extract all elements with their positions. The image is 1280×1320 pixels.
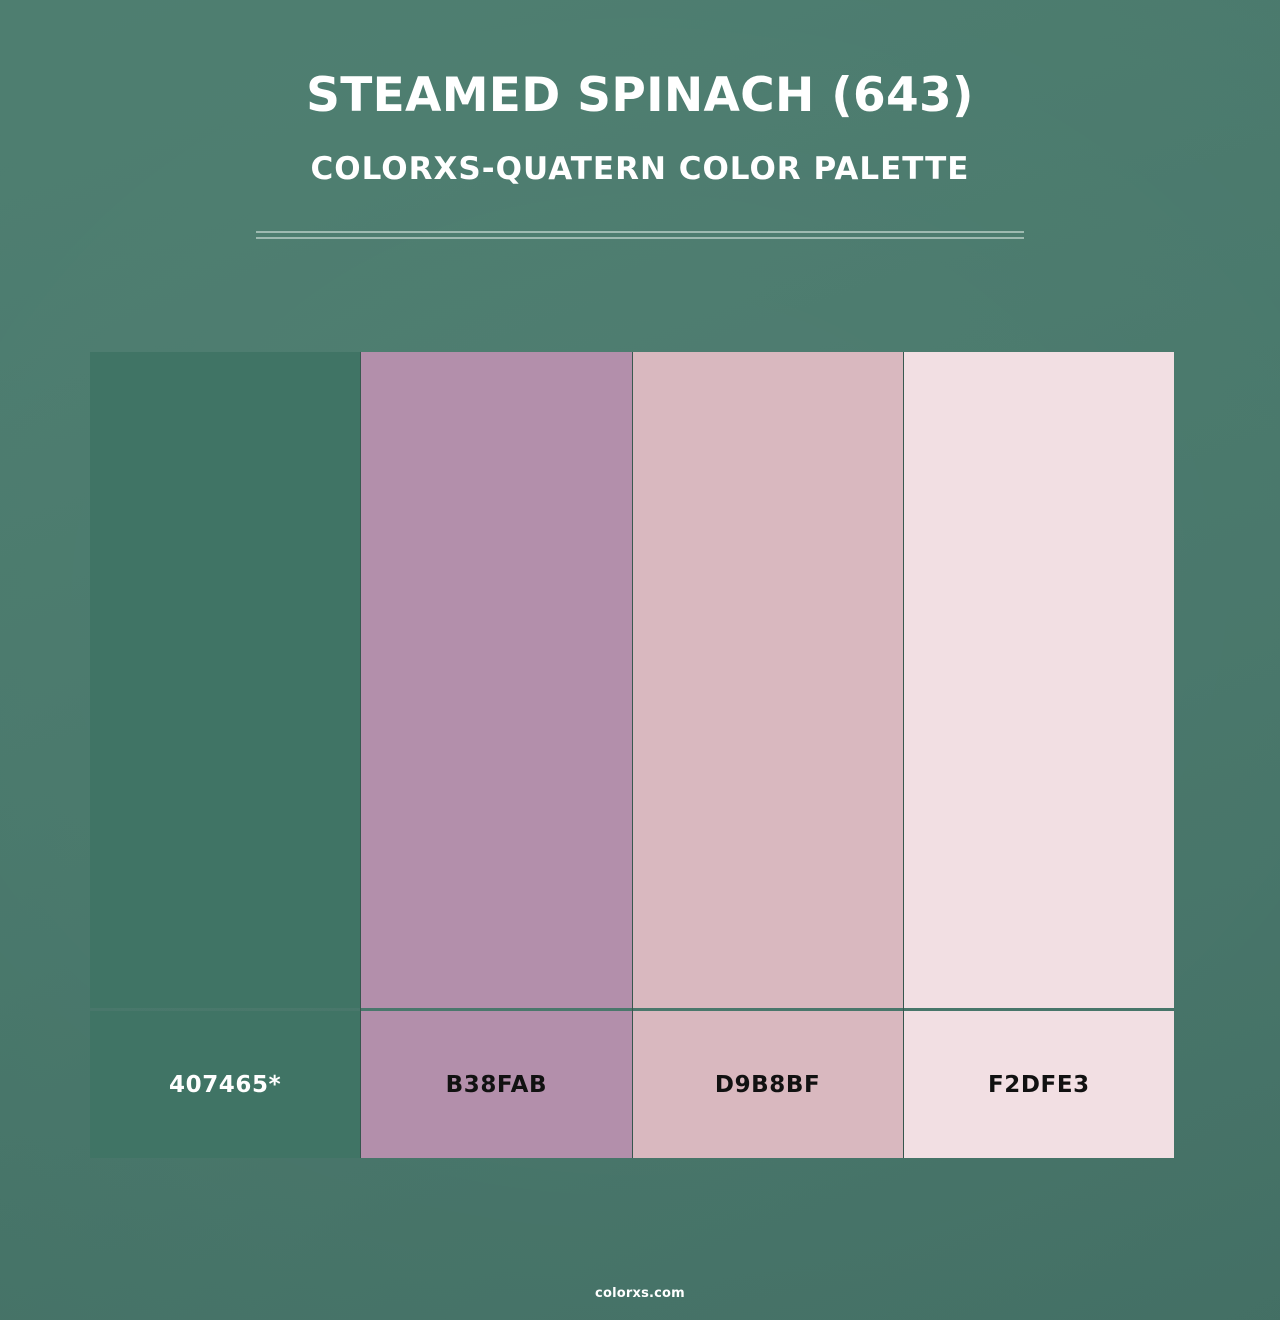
divider-line-top [256,231,1024,233]
color-swatch[interactable] [904,352,1174,1008]
color-hex-label-cell[interactable]: F2DFE3 [904,1011,1174,1158]
header-divider [256,231,1024,240]
site-name: colorxs.com [595,1286,685,1301]
palette-column[interactable]: B38FAB [361,352,632,1158]
color-hex-label: B38FAB [446,1072,548,1098]
palette-column[interactable]: 407465* [90,352,361,1158]
color-swatch[interactable] [90,352,360,1008]
page-background: STEAMED SPINACH (643) COLORXS-QUATERN CO… [0,0,1280,1320]
color-hex-label: D9B8BF [715,1072,820,1098]
color-hex-label-cell[interactable]: B38FAB [361,1011,631,1158]
header: STEAMED SPINACH (643) COLORXS-QUATERN CO… [0,0,1280,185]
color-swatch[interactable] [633,352,903,1008]
color-hex-label-cell[interactable]: 407465* [90,1011,360,1158]
divider-line-bottom [256,237,1024,239]
color-palette-grid: 407465* B38FAB D9B8BF F2DFE3 [90,352,1174,1158]
palette-column[interactable]: F2DFE3 [904,352,1174,1158]
palette-column[interactable]: D9B8BF [633,352,904,1158]
page-title: STEAMED SPINACH (643) [0,0,1280,119]
color-swatch[interactable] [361,352,631,1008]
color-hex-label-cell[interactable]: D9B8BF [633,1011,903,1158]
color-hex-label: F2DFE3 [988,1072,1090,1098]
color-hex-label: 407465* [169,1072,281,1098]
footer: colorxs.com [0,1286,1280,1301]
page-subtitle: COLORXS-QUATERN COLOR PALETTE [0,119,1280,185]
